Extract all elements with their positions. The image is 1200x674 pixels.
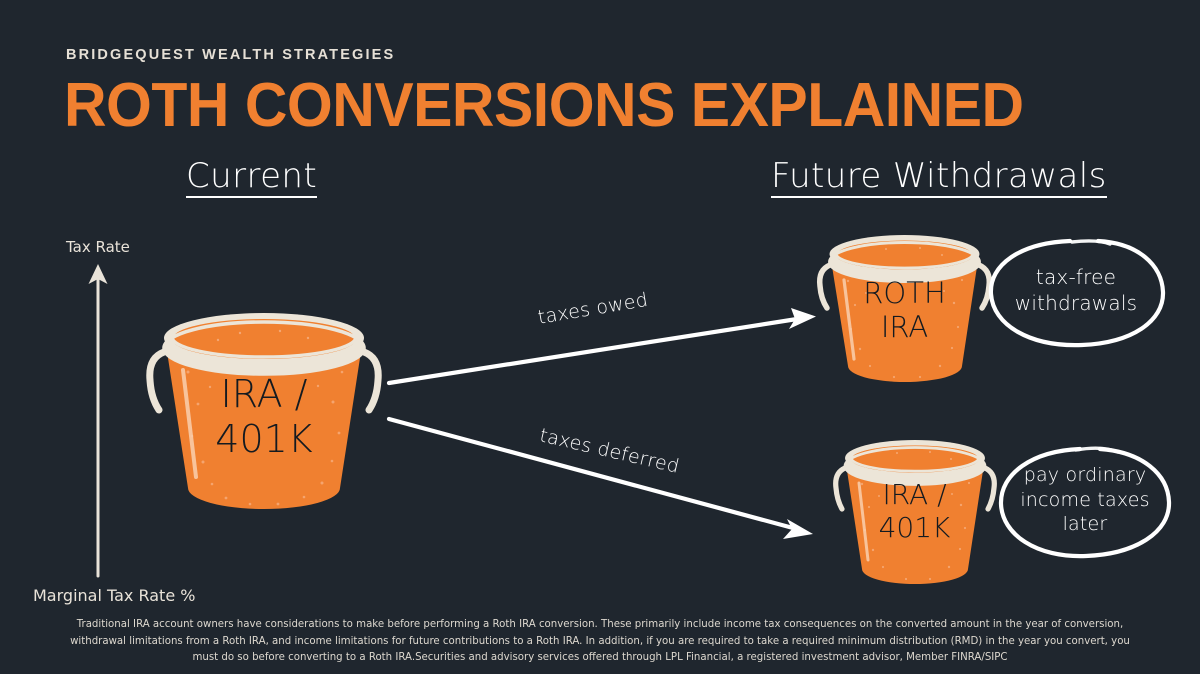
callout-roth-text: tax-free withdrawals (986, 264, 1166, 316)
callout-trad-text: pay ordinary income taxes later (996, 463, 1174, 537)
bucket-handle-right (985, 468, 994, 509)
callout-pay-ordinary-income-taxes: pay ordinary income taxes later (996, 444, 1174, 560)
callout-trad-line3: later (996, 512, 1174, 537)
bucket-ira-401k-current: IRA / 401K (140, 312, 388, 512)
infographic-canvas: BRIDGEQUEST WEALTH STRATEGIES ROTH CONVE… (0, 0, 1200, 674)
bucket-illustration (828, 440, 1001, 585)
arrow-taxes-owed (389, 308, 816, 383)
callout-trad-line1: pay ordinary (996, 463, 1174, 488)
bucket-handle-left (836, 468, 845, 509)
bucket-handle-left (150, 352, 164, 410)
bucket-roth-ira: ROTH IRA (812, 235, 997, 385)
callout-roth-line1: tax-free (986, 264, 1166, 290)
bucket-illustration (812, 235, 997, 385)
bucket-handle-right (364, 352, 378, 410)
bucket-ira-401k-future: IRA / 401K (828, 440, 1001, 585)
bucket-illustration (140, 312, 388, 512)
disclaimer-text: Traditional IRA account owners have cons… (58, 617, 1142, 667)
callout-roth-line2: withdrawals (986, 290, 1166, 316)
callout-tax-free-withdrawals: tax-free withdrawals (986, 237, 1166, 349)
callout-trad-line2: income taxes (996, 488, 1174, 513)
bucket-handle-left (820, 265, 830, 308)
